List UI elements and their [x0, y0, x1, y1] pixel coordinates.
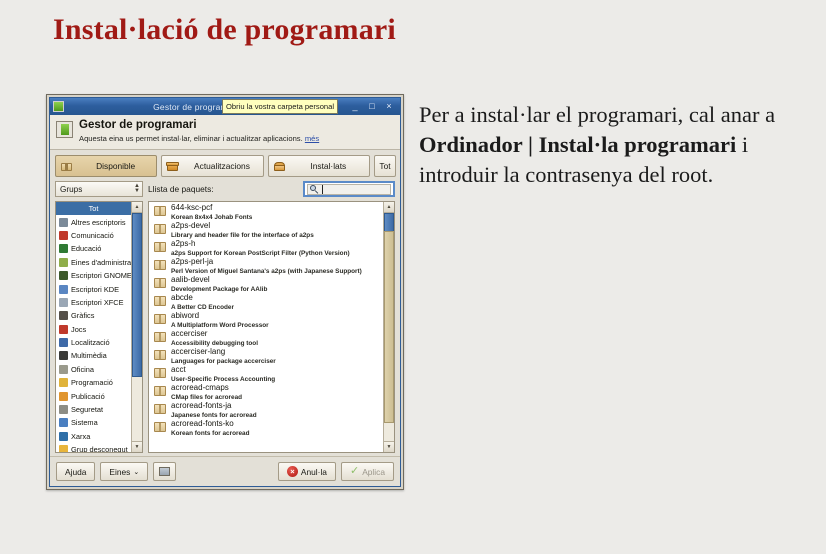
header-subtitle-text: Aquesta eina us permet instal·lar, elimi…	[79, 134, 303, 143]
package-text: a2ps-perl-jaPerl Version of Miguel Santa…	[171, 257, 362, 276]
group-item[interactable]: Gràfics	[56, 309, 131, 322]
package-box-icon	[153, 385, 167, 397]
package-name: a2ps-devel	[171, 222, 314, 231]
group-combo-value: Grups	[60, 185, 134, 194]
package-name: acroread-fonts-ko	[171, 420, 249, 429]
package-text: accerciserAccessibility debugging tool	[171, 329, 258, 348]
package-box-icon	[153, 403, 167, 415]
apply-button-label: Aplica	[362, 467, 385, 477]
group-item-icon	[59, 271, 68, 280]
group-item[interactable]: Jocs	[56, 323, 131, 336]
package-box-icon	[153, 331, 167, 343]
group-item-label: Grup desconegut	[71, 445, 128, 452]
magnifier-icon	[310, 185, 319, 194]
group-item[interactable]: Grup desconegut	[56, 443, 131, 452]
package-name: accerciser-lang	[171, 348, 276, 357]
group-item-icon	[59, 325, 68, 334]
group-scroll-down-icon[interactable]: ▼	[132, 441, 142, 452]
cancel-x-icon: ×	[287, 466, 298, 477]
group-item-icon	[59, 258, 68, 267]
screen-icon	[159, 467, 170, 476]
package-row[interactable]: abiwordA Multiplatform Word Processor	[149, 310, 383, 328]
group-item-label: Publicació	[71, 392, 105, 401]
group-item-icon	[59, 298, 68, 307]
package-list[interactable]: 644-ksc-pcfKorean 8x4x4 Johab Fontsa2ps-…	[149, 202, 383, 452]
package-name: aalib-devel	[171, 276, 267, 285]
package-row[interactable]: aalib-develDevelopment Package for AAlib	[149, 274, 383, 292]
instruction-text-part1: Per a instal·lar el programari, cal anar…	[419, 102, 775, 127]
group-item-label: Escriptori XFCE	[71, 298, 124, 307]
package-description: Korean fonts for acroread	[171, 430, 249, 439]
page-title: Instal·lació de programari	[53, 13, 396, 47]
instruction-menu-path: Ordinador | Instal·la programari	[419, 132, 736, 157]
tab-installats[interactable]: Instal·lats	[268, 155, 370, 177]
package-box-icon	[153, 295, 167, 307]
package-box-icon	[153, 205, 167, 217]
cancel-button[interactable]: × Anul·la	[278, 462, 336, 481]
tab-actualitzacions-label: Actualitzacions	[185, 161, 258, 171]
group-item-icon	[59, 218, 68, 227]
package-scrollbar[interactable]: ▲ ▼	[383, 202, 394, 452]
group-item-icon	[59, 432, 68, 441]
group-item-label: Tot	[89, 204, 99, 213]
group-item[interactable]: Educació	[56, 242, 131, 255]
package-text: acctUser-Specific Process Accounting	[171, 365, 275, 384]
group-item[interactable]: Oficina	[56, 363, 131, 376]
group-item[interactable]: Comunicació	[56, 229, 131, 242]
group-item[interactable]: Xarxa	[56, 430, 131, 443]
main-body: TotAltres escriptorisComunicacióEducació…	[50, 201, 400, 453]
package-scroll-track[interactable]	[384, 213, 394, 441]
package-box-icon	[153, 421, 167, 433]
package-name: acroread-cmaps	[171, 384, 242, 393]
group-list[interactable]: TotAltres escriptorisComunicacióEducació…	[56, 202, 131, 452]
package-text: aalib-develDevelopment Package for AAlib	[171, 275, 267, 294]
package-row[interactable]: a2ps-develLibrary and header file for th…	[149, 220, 383, 238]
group-item[interactable]: Escriptori KDE	[56, 282, 131, 295]
bottom-toolbar: Ajuda Eines ⌄ × Anul·la ✓ Aplica	[50, 456, 400, 486]
window-titlebar[interactable]: Gestor de programari - YaS _ □ × Obriu l…	[50, 98, 400, 115]
package-text: a2ps-ha2ps Support for Korean PostScript…	[171, 239, 350, 258]
group-item-label: Gràfics	[71, 311, 94, 320]
group-item[interactable]: Tot	[56, 202, 131, 215]
package-icon	[53, 101, 64, 112]
software-manager-icon	[56, 121, 73, 138]
package-text: abiwordA Multiplatform Word Processor	[171, 311, 269, 330]
group-item[interactable]: Altres escriptoris	[56, 215, 131, 228]
group-item-label: Seguretat	[71, 405, 103, 414]
group-item-icon	[59, 365, 68, 374]
box-phone-icon	[273, 161, 287, 172]
package-box-icon	[153, 259, 167, 271]
group-item[interactable]: Sistema	[56, 416, 131, 429]
check-icon: ✓	[350, 466, 359, 477]
tooltip: Obriu la vostra carpeta personal	[222, 99, 338, 114]
tab-installats-label: Instal·lats	[292, 161, 365, 171]
package-list-pane: 644-ksc-pcfKorean 8x4x4 Johab Fontsa2ps-…	[148, 201, 395, 453]
package-scroll-up-icon[interactable]: ▲	[384, 202, 394, 213]
package-name: abcde	[171, 294, 234, 303]
package-row[interactable]: abcdeA Better CD Encoder	[149, 292, 383, 310]
package-name: a2ps-h	[171, 240, 350, 249]
package-text: acroread-fonts-koKorean fonts for acrore…	[171, 419, 249, 438]
group-item-label: Altres escriptoris	[71, 218, 126, 227]
package-name: accerciser	[171, 330, 258, 339]
text-caret	[322, 185, 323, 194]
group-item-label: Escriptori GNOME	[71, 271, 131, 280]
group-item-label: Sistema	[71, 418, 98, 427]
spinner-arrows-icon[interactable]: ▲▼	[134, 184, 140, 194]
package-text: a2ps-develLibrary and header file for th…	[171, 221, 314, 240]
tab-tot[interactable]: Tot	[374, 155, 396, 177]
group-item-label: Multimèdia	[71, 351, 107, 360]
group-item-label: Comunicació	[71, 231, 114, 240]
group-scroll-up-icon[interactable]: ▲	[132, 202, 142, 213]
tab-disponible[interactable]: Disponible	[55, 155, 157, 177]
header-title: Gestor de programari	[79, 119, 319, 132]
group-item-label: Oficina	[71, 365, 94, 374]
package-row[interactable]: acroread-cmapsCMap files for acroread	[149, 382, 383, 400]
group-item-icon	[59, 392, 68, 401]
window-header: Gestor de programari Aquesta eina us per…	[50, 115, 400, 150]
package-text: acroread-cmapsCMap files for acroread	[171, 383, 242, 402]
box-open-icon	[166, 161, 180, 172]
group-list-pane: TotAltres escriptorisComunicacióEducació…	[55, 201, 143, 453]
package-name: a2ps-perl-ja	[171, 258, 362, 267]
package-list-label: Llista de paquets:	[148, 184, 298, 194]
window-controls: _ □ ×	[351, 102, 397, 111]
help-button[interactable]: Ajuda	[56, 462, 95, 481]
package-row[interactable]: 644-ksc-pcfKorean 8x4x4 Johab Fonts	[149, 202, 383, 220]
group-item[interactable]: Escriptori GNOME	[56, 269, 131, 282]
package-row[interactable]: acroread-fonts-koKorean fonts for acrore…	[149, 418, 383, 436]
package-row[interactable]: a2ps-perl-jaPerl Version of Miguel Santa…	[149, 256, 383, 274]
package-text: 644-ksc-pcfKorean 8x4x4 Johab Fonts	[171, 203, 252, 222]
box-closed-icon	[60, 161, 74, 172]
chevron-down-icon: ⌄	[133, 468, 139, 476]
close-icon[interactable]: ×	[385, 102, 393, 111]
screen-button[interactable]	[153, 462, 176, 481]
group-item-icon	[59, 311, 68, 320]
group-item-label: Eines d'administració	[71, 258, 131, 267]
maximize-icon[interactable]: □	[368, 102, 376, 111]
group-scrollbar[interactable]: ▲ ▼	[131, 202, 142, 452]
tools-button-label: Eines	[109, 467, 130, 477]
group-item[interactable]: Publicació	[56, 389, 131, 402]
group-item[interactable]: Localització	[56, 336, 131, 349]
group-item-label: Escriptori KDE	[71, 285, 119, 294]
group-combo[interactable]: Grups ▲▼	[55, 181, 143, 197]
package-box-icon	[153, 241, 167, 253]
package-box-icon	[153, 277, 167, 289]
group-item-label: Localització	[71, 338, 110, 347]
search-input[interactable]	[303, 181, 395, 197]
package-text: acroread-fonts-jaJapanese fonts for acro…	[171, 401, 257, 420]
package-box-icon	[153, 349, 167, 361]
package-box-icon	[153, 367, 167, 379]
group-item[interactable]: Programació	[56, 376, 131, 389]
group-item-label: Educació	[71, 244, 101, 253]
cancel-button-label: Anul·la	[301, 467, 327, 477]
tools-button[interactable]: Eines ⌄	[100, 462, 148, 481]
package-name: acct	[171, 366, 275, 375]
group-item-icon	[59, 338, 68, 347]
group-item-icon	[59, 445, 68, 452]
group-item-icon	[59, 285, 68, 294]
group-item[interactable]: Eines d'administració	[56, 256, 131, 269]
group-item-icon	[59, 418, 68, 427]
group-scroll-track[interactable]	[132, 213, 142, 441]
package-scroll-thumb[interactable]	[384, 231, 394, 423]
package-row[interactable]: a2ps-ha2ps Support for Korean PostScript…	[149, 238, 383, 256]
instruction-paragraph: Per a instal·lar el programari, cal anar…	[419, 100, 811, 190]
package-text: accerciser-langLanguages for package acc…	[171, 347, 276, 366]
group-item-icon	[59, 405, 68, 414]
software-manager-window: Gestor de programari - YaS _ □ × Obriu l…	[46, 94, 404, 490]
package-name: acroread-fonts-ja	[171, 402, 257, 411]
filter-row: Grups ▲▼ Llista de paquets:	[50, 181, 400, 201]
group-item[interactable]: Multimèdia	[56, 349, 131, 362]
group-item-label: Jocs	[71, 325, 86, 334]
package-row[interactable]: accerciser-langLanguages for package acc…	[149, 346, 383, 364]
package-row[interactable]: acroread-fonts-jaJapanese fonts for acro…	[149, 400, 383, 418]
group-item[interactable]: Seguretat	[56, 403, 131, 416]
package-name: abiword	[171, 312, 269, 321]
package-scroll-down-icon[interactable]: ▼	[384, 441, 394, 452]
window-inner-frame: Gestor de programari - YaS _ □ × Obriu l…	[49, 97, 401, 487]
group-item[interactable]: Escriptori XFCE	[56, 296, 131, 309]
header-subtitle: Aquesta eina us permet instal·lar, elimi…	[79, 133, 319, 144]
group-item-icon	[59, 378, 68, 387]
package-row[interactable]: accerciserAccessibility debugging tool	[149, 328, 383, 346]
group-item-label: Xarxa	[71, 432, 90, 441]
tab-disponible-label: Disponible	[79, 161, 152, 171]
tab-tot-label: Tot	[375, 161, 395, 171]
package-text: abcdeA Better CD Encoder	[171, 293, 234, 312]
search-input-inner[interactable]	[307, 184, 391, 195]
package-row[interactable]: acctUser-Specific Process Accounting	[149, 364, 383, 382]
group-scroll-thumb[interactable]	[132, 213, 142, 377]
more-link[interactable]: més	[305, 134, 319, 143]
help-button-label: Ajuda	[65, 467, 86, 477]
group-item-icon	[59, 351, 68, 360]
group-item-icon	[59, 244, 68, 253]
package-box-icon	[153, 223, 167, 235]
apply-button[interactable]: ✓ Aplica	[341, 462, 394, 481]
package-name: 644-ksc-pcf	[171, 204, 252, 213]
minimize-icon[interactable]: _	[351, 102, 359, 111]
tab-actualitzacions[interactable]: Actualitzacions	[161, 155, 263, 177]
group-item-label: Programació	[71, 378, 113, 387]
group-item-icon	[59, 231, 68, 240]
package-box-icon	[153, 313, 167, 325]
tab-bar: Disponible Actualitzacions Instal·lats T…	[50, 150, 400, 181]
